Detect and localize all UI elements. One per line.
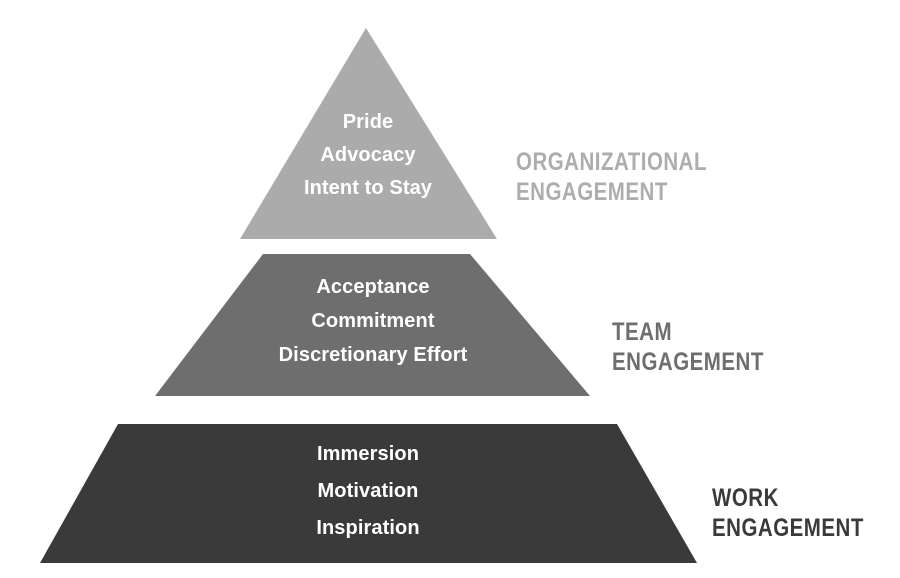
side-label-work-line-1: Work — [712, 484, 864, 514]
side-label-team-line-2: Engagement — [612, 348, 764, 378]
side-label-team-line-1: Team — [612, 318, 764, 348]
tier-bottom-shape — [40, 424, 697, 563]
side-label-organizational-line-1: Organizational — [516, 148, 707, 178]
engagement-pyramid-diagram: Pride Advocacy Intent to Stay Acceptance… — [0, 0, 900, 578]
tier-top-shape — [240, 28, 497, 239]
tier-middle-shape — [155, 254, 590, 396]
side-label-team-engagement: Team Engagement — [612, 318, 764, 377]
side-label-organizational-line-2: Engagement — [516, 178, 707, 208]
side-label-work-line-2: Engagement — [712, 514, 864, 544]
side-label-organizational-engagement: Organizational Engagement — [516, 148, 707, 207]
side-label-work-engagement: Work Engagement — [712, 484, 864, 543]
